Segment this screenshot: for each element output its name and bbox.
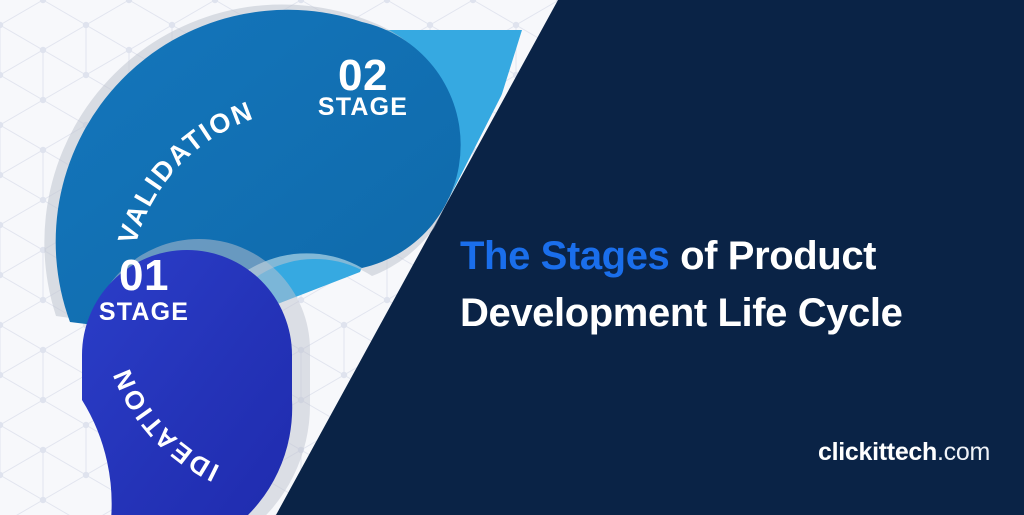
stage-02-word: STAGE <box>318 93 408 121</box>
product-lifecycle-banner: VALIDATION 02 STAGE IDEATION 01 <box>0 0 1024 515</box>
headline-accent-text: The Stages <box>460 234 669 278</box>
stage-01-word: STAGE <box>99 298 189 326</box>
brand-tld: .com <box>937 438 990 466</box>
headline-line-1-rest: of Product <box>669 234 876 278</box>
brand-logo[interactable]: clickittech.com <box>818 438 990 467</box>
brand-name: clickittech <box>818 438 937 466</box>
headline-line-2: Development Life Cycle <box>460 285 1000 342</box>
stage-01-number: 01 <box>119 251 169 300</box>
headline: The Stages of Product Development Life C… <box>460 228 1000 342</box>
headline-line-1: The Stages of Product <box>460 228 1000 285</box>
